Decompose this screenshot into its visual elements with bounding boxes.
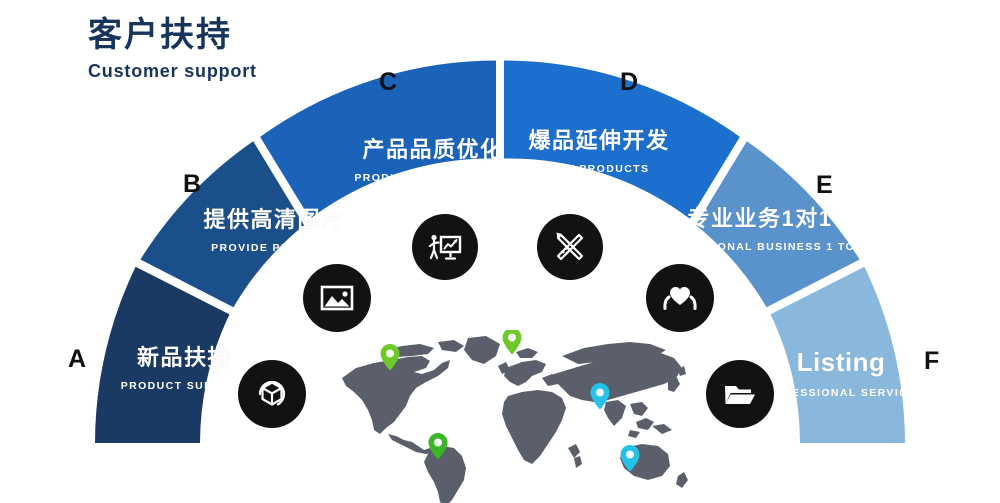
infographic-canvas: 客户扶持 Customer support: [0, 0, 1000, 503]
presentation-chart-icon[interactable]: [412, 214, 478, 280]
pin-northern-europe[interactable]: [503, 330, 522, 355]
pencil-ruler-icon[interactable]: [537, 214, 603, 280]
segment-letter-e: E: [816, 173, 833, 198]
heart-in-hands-icon[interactable]: [646, 264, 714, 332]
segment-letter-f: F: [924, 349, 939, 374]
segment-letter-b: B: [183, 172, 201, 197]
open-folder-icon[interactable]: [706, 360, 774, 428]
page-title: 客户扶持 Customer support: [88, 16, 257, 82]
segment-letter-c: C: [379, 70, 397, 95]
world-map: [330, 330, 700, 503]
package-box-icon[interactable]: [238, 360, 306, 428]
segment-letter-d: D: [620, 70, 638, 95]
page-title-zh: 客户扶持: [88, 16, 257, 55]
page-title-en: Customer support: [88, 61, 257, 82]
segment-letter-a: A: [68, 347, 86, 372]
image-photo-icon[interactable]: [303, 264, 371, 332]
